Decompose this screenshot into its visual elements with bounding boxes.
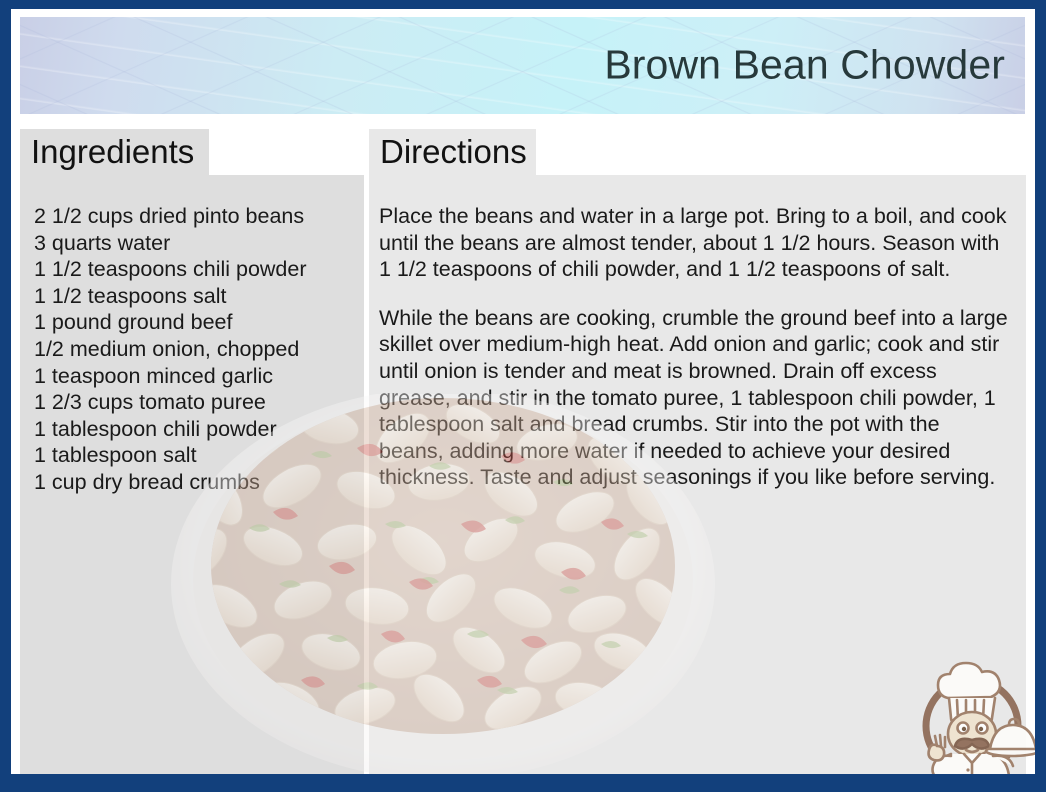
list-item: 1 cup dry bread crumbs (34, 469, 350, 496)
ingredients-panel: 2 1/2 cups dried pinto beans 3 quarts wa… (20, 175, 364, 774)
header-banner: Brown Bean Chowder (20, 17, 1025, 114)
direction-paragraph: Place the beans and water in a large pot… (379, 203, 1010, 283)
page-title: Brown Bean Chowder (604, 44, 1005, 85)
list-item: 1 1/2 teaspoons salt (34, 283, 350, 310)
ingredients-list: 2 1/2 cups dried pinto beans 3 quarts wa… (34, 203, 350, 496)
chef-mascot-logo (904, 650, 1035, 774)
directions-heading-tab: Directions (369, 129, 536, 175)
list-item: 1 tablespoon salt (34, 442, 350, 469)
direction-paragraph: While the beans are cooking, crumble the… (379, 305, 1010, 491)
ingredients-heading-tab: Ingredients (20, 129, 209, 175)
ingredients-heading-label: Ingredients (31, 133, 194, 170)
page-surface: Brown Bean Chowder 2 1/2 cups dried pint… (11, 9, 1035, 774)
list-item: 2 1/2 cups dried pinto beans (34, 203, 350, 230)
recipe-card: Brown Bean Chowder 2 1/2 cups dried pint… (0, 0, 1046, 792)
list-item: 3 quarts water (34, 230, 350, 257)
list-item: 1 1/2 teaspoons chili powder (34, 256, 350, 283)
list-item: 1 teaspoon minced garlic (34, 363, 350, 390)
directions-heading-label: Directions (380, 133, 527, 170)
list-item: 1/2 medium onion, chopped (34, 336, 350, 363)
list-item: 1 tablespoon chili powder (34, 416, 350, 443)
list-item: 1 2/3 cups tomato puree (34, 389, 350, 416)
list-item: 1 pound ground beef (34, 309, 350, 336)
